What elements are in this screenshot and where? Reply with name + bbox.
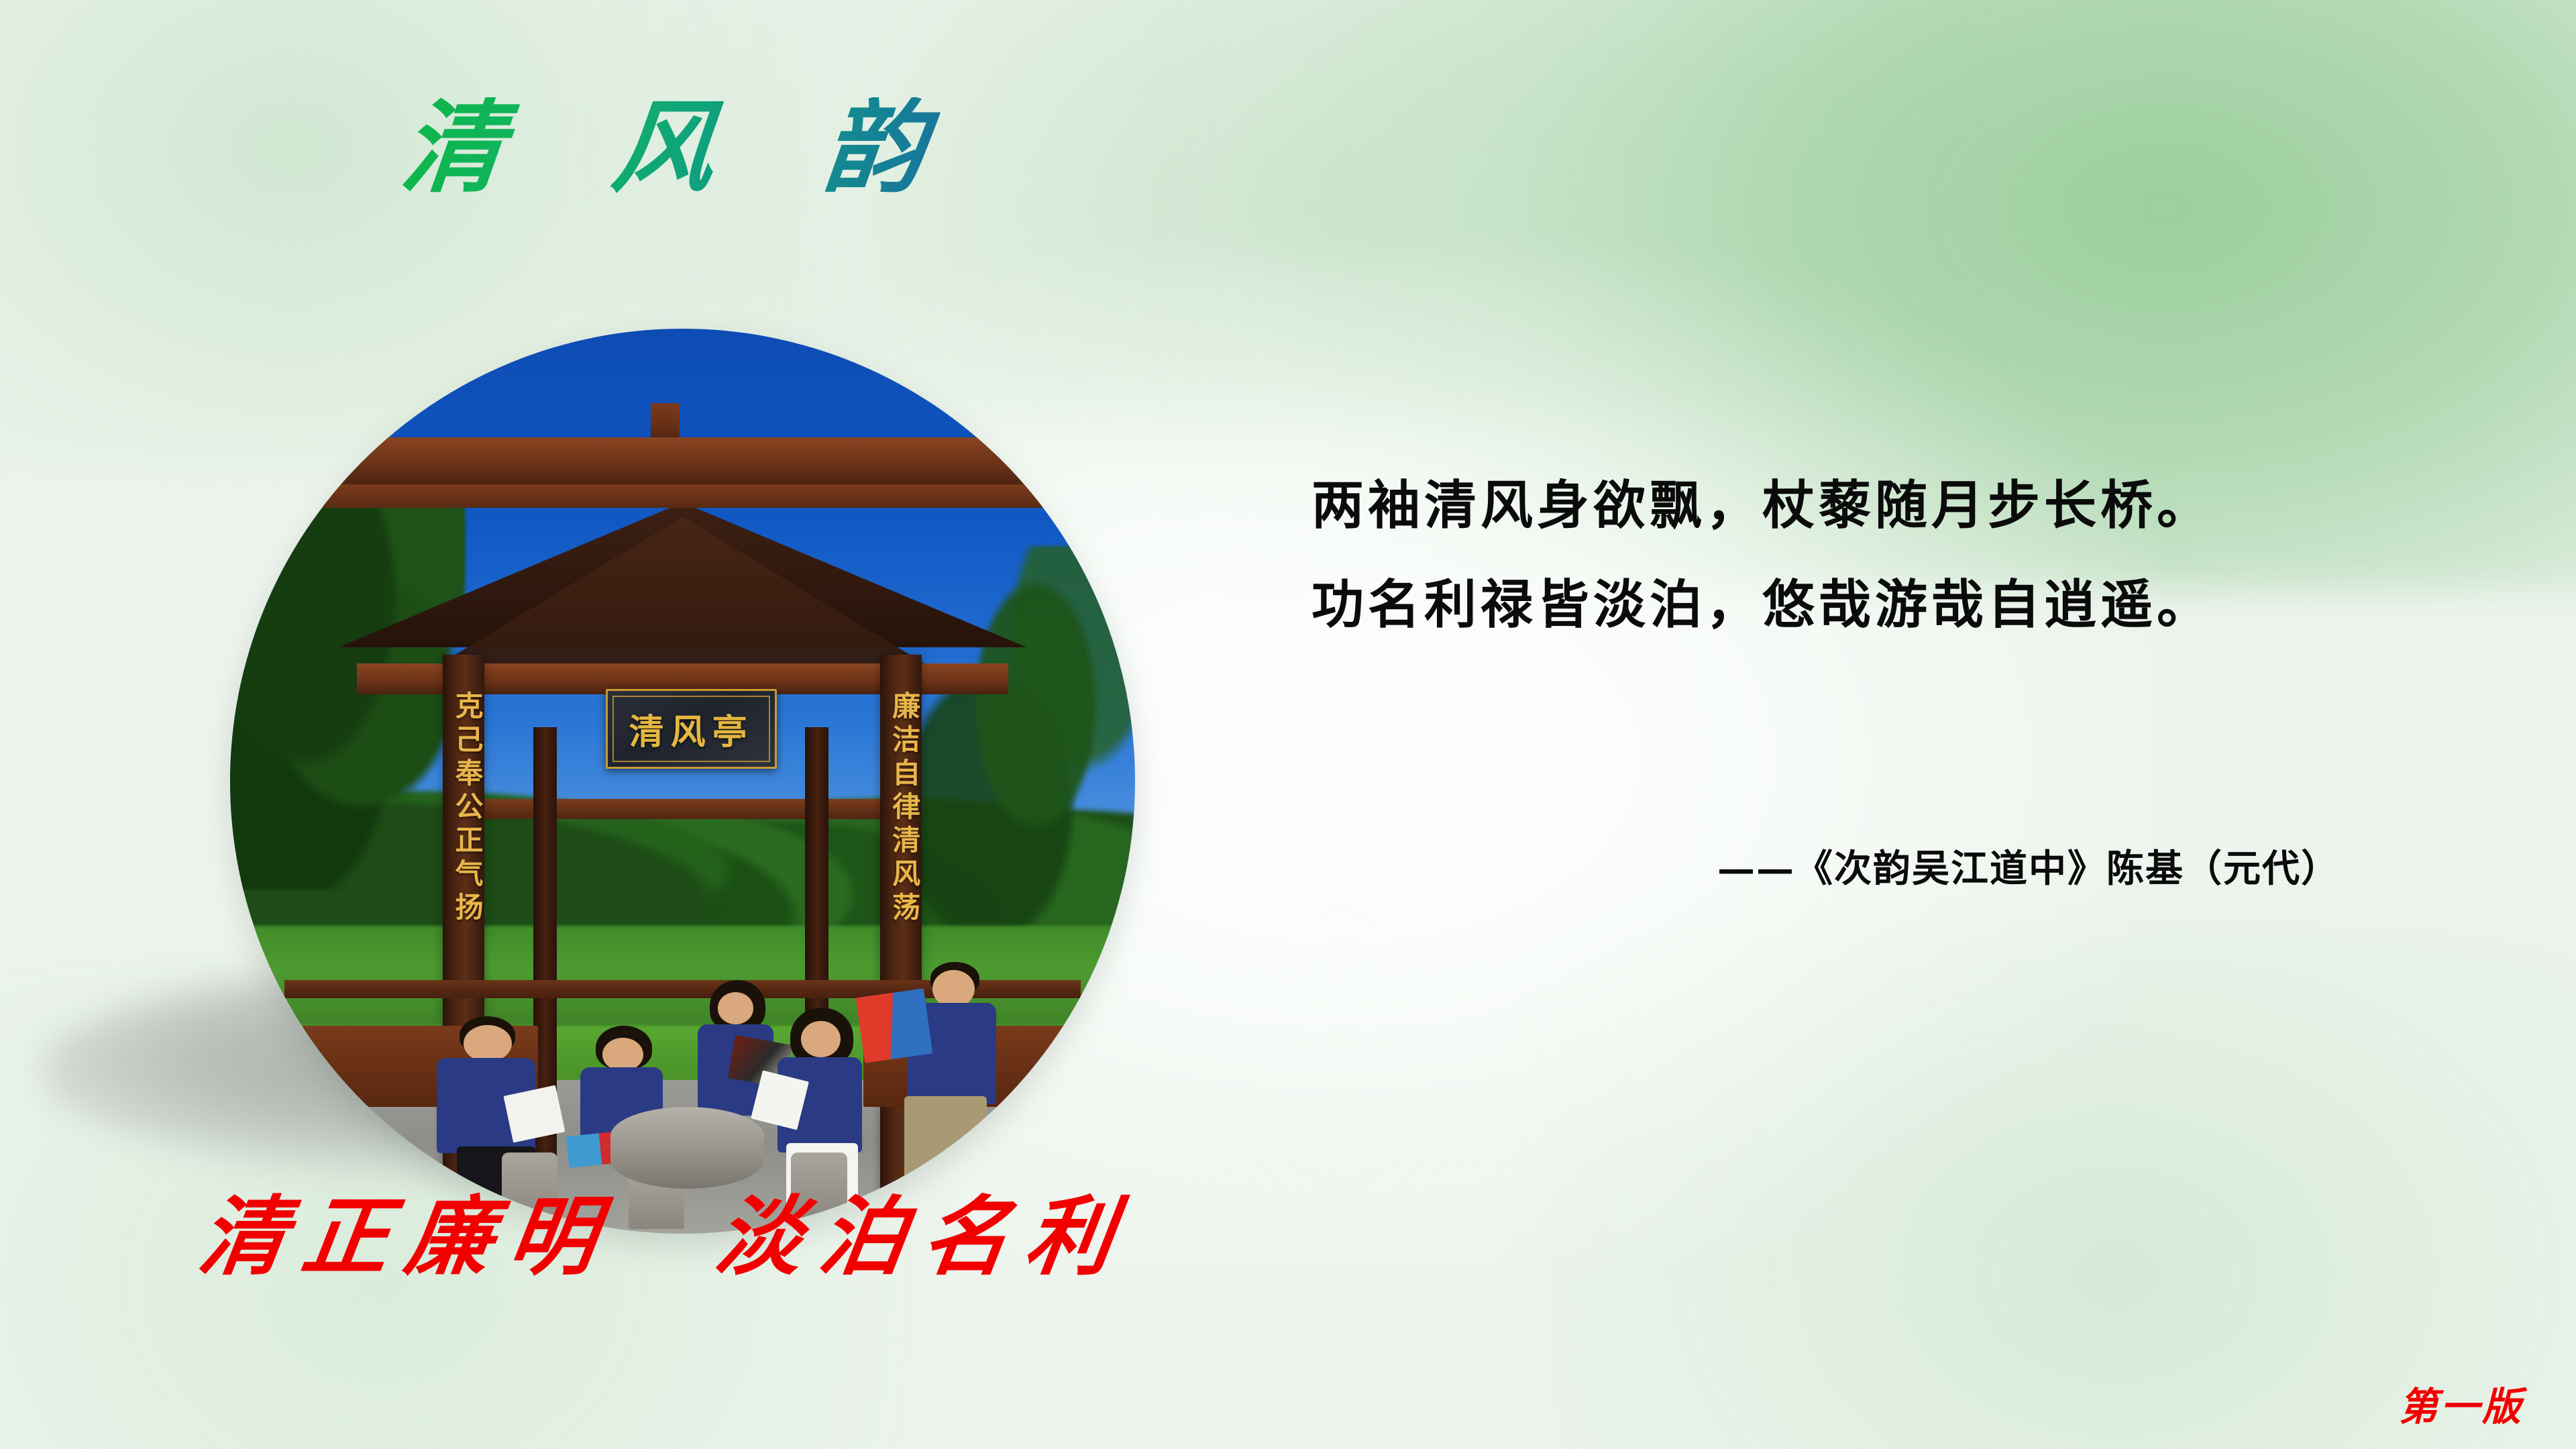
slogan-text: 清正廉明 淡泊名利	[193, 1167, 1140, 1291]
page-number-badge: 第一版	[2399, 1375, 2524, 1432]
pavilion-roof-eave-secondary	[311, 484, 1053, 508]
pillar-couplet-right: 廉洁自律清风荡	[880, 691, 922, 926]
poem-block: 两袖清风身欲飘，杖藜随月步长桥。 功名利禄皆淡泊，悠哉游哉自逍遥。	[1311, 480, 2358, 678]
pillar-couplet-left: 克己奉公正气扬	[443, 691, 484, 926]
person-right-head	[932, 970, 975, 1008]
poem-line-2: 功名利禄皆淡泊，悠哉游哉自逍遥。	[1311, 579, 2358, 631]
photo-scene: 克己奉公正气扬 廉洁自律清风荡 清风亭	[230, 329, 1135, 1234]
person-right-magazine	[855, 988, 932, 1063]
person-second-head	[602, 1038, 644, 1071]
pavilion-roof-eave	[284, 437, 1081, 484]
poster-title: 清 风 韵	[397, 97, 967, 198]
person-center-right-head	[801, 1021, 840, 1057]
person-left-head	[464, 1025, 512, 1062]
pavilion-plaque-text: 清风亭	[629, 704, 754, 754]
poem-attribution: ——《次韵吴江道中》陈基（元代）	[1717, 839, 2340, 893]
pavilion-inner-beam	[447, 799, 900, 819]
poem-line-1: 两袖清风身欲飘，杖藜随月步长桥。	[1311, 480, 2358, 532]
tree-right	[918, 546, 1135, 945]
pavilion-plaque: 清风亭	[606, 689, 777, 769]
poster-canvas: 清 风 韵 克己奉公正气扬 廉洁自律清风荡 清风亭	[0, 0, 2576, 1449]
person-standing-head	[718, 992, 753, 1024]
circular-photo: 克己奉公正气扬 廉洁自律清风荡 清风亭	[230, 329, 1135, 1234]
